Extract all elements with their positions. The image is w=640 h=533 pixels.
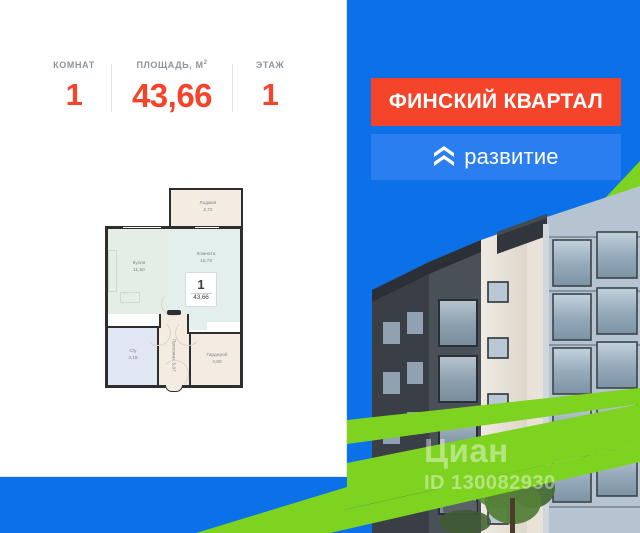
entry-door [165,385,183,392]
chevron-stack-icon [433,145,455,169]
stat-rooms-label: КОМНАТ [53,60,95,70]
area-badge: 1 43,66 [185,272,217,307]
kitchen-counter [108,250,117,292]
complex-name-banner: ФИНСКИЙ КВАРТАЛ [371,78,621,126]
brand-block: ФИНСКИЙ КВАРТАЛ развитие [371,78,621,180]
wall [169,188,243,190]
developer-banner[interactable]: развитие [371,134,621,180]
stat-floor-value: 1 [262,79,279,110]
square-meter-superscript: 2 [204,60,208,66]
stat-rooms-value: 1 [66,79,83,110]
stat-floor: ЭТАЖ 1 [233,60,307,110]
badge-rooms-count: 1 [197,278,204,291]
door-marker [167,310,181,315]
floorplan-drawing: Лоджия 2,72 Кухня 11,50 [101,188,251,388]
stats-row: КОМНАТ 1 ПЛОЩАДЬ, М2 43,66 ЭТАЖ 1 [37,60,313,140]
complex-name-text: ФИНСКИЙ КВАРТАЛ [389,90,603,114]
room-loggia [171,188,243,226]
developer-name-text: развитие [464,144,559,170]
wall [241,188,243,228]
info-panel: КОМНАТ 1 ПЛОЩАДЬ, М2 43,66 ЭТАЖ 1 [0,0,347,477]
door-arc [145,320,171,346]
floorplan-container: Лоджия 2,72 Кухня 11,50 [37,170,313,405]
stat-floor-label: ЭТАЖ [256,60,284,70]
door-arc [161,360,189,388]
stat-area-label: ПЛОЩАДЬ, М2 [136,60,207,70]
stat-rooms: КОМНАТ 1 [37,60,111,110]
stat-area-value: 43,66 [132,79,212,112]
badge-area-value: 43,66 [193,295,209,301]
kitchen-appliance [120,292,140,303]
wall [240,226,243,388]
stat-area: ПЛОЩАДЬ, М2 43,66 [112,60,232,112]
listing-card: КОМНАТ 1 ПЛОЩАДЬ, М2 43,66 ЭТАЖ 1 [0,0,640,533]
room-living-right [207,314,240,322]
wall [169,188,171,228]
door-arc [175,320,201,346]
